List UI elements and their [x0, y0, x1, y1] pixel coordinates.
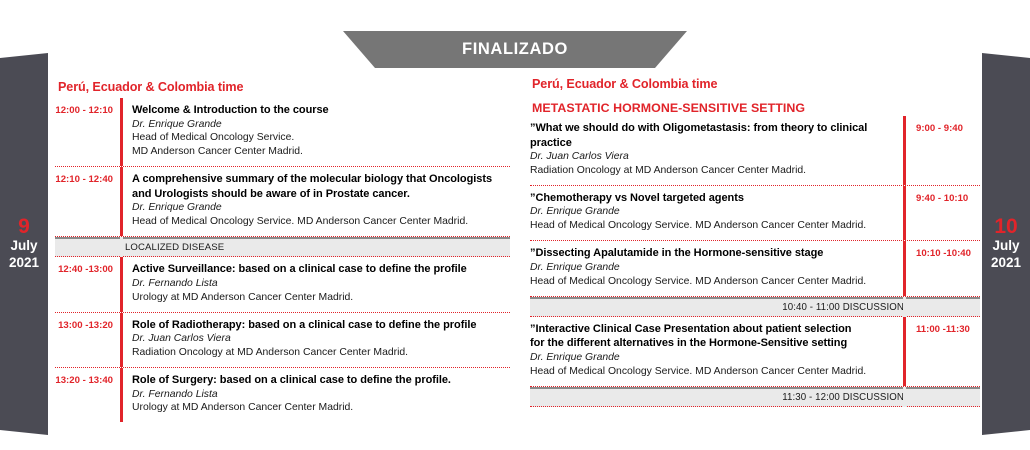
session-accent-bar	[120, 368, 123, 422]
session-speaker: Dr. Juan Carlos Viera	[530, 150, 903, 164]
session-speaker: Dr. Enrique Grande	[132, 118, 510, 132]
session-affiliation: Radiation Oncology at MD Anderson Cancer…	[530, 164, 903, 178]
session-content: Role of Radiotherapy: based on a clinica…	[132, 313, 510, 367]
discussion-band: 10:40 - 11:00 DISCUSSION	[530, 297, 980, 317]
session-content: Active Surveillance: based on a clinical…	[132, 257, 510, 311]
session-row: ”Dissecting Apalutamide in the Hormone-s…	[530, 241, 980, 296]
session-accent-bar	[120, 313, 123, 367]
session-affiliation: Radiation Oncology at MD Anderson Cancer…	[132, 346, 510, 360]
session-title: Active Surveillance: based on a clinical…	[132, 262, 510, 277]
agenda-page: FINALIZADO 9 July 2021 10 July 2021 Perú…	[0, 0, 1030, 450]
session-speaker: Dr. Fernando Lista	[132, 277, 510, 291]
session-title: Role of Radiotherapy: based on a clinica…	[132, 318, 510, 333]
session-content: Welcome & Introduction to the course Dr.…	[132, 98, 510, 166]
session-row: ”What we should do with Oligometastasis:…	[530, 116, 980, 186]
session-time: 13:20 - 13:40	[55, 368, 113, 386]
timezone-heading: Perú, Ecuador & Colombia time	[532, 77, 717, 91]
session-title: ”What we should do with Oligometastasis:…	[530, 121, 903, 150]
session-speaker: Dr. Enrique Grande	[530, 261, 903, 275]
date-month: July	[10, 238, 37, 255]
session-speaker: Dr. Fernando Lista	[132, 388, 510, 402]
session-time: 13:00 -13:20	[55, 313, 113, 331]
session-list-day-9: 12:00 - 12:10 Welcome & Introduction to …	[55, 98, 510, 422]
session-title: ”Dissecting Apalutamide in the Hormone-s…	[530, 246, 903, 261]
session-affiliation: Head of Medical Oncology Service. MD And…	[530, 219, 903, 233]
date-month: July	[992, 238, 1019, 255]
session-affiliation: Urology at MD Anderson Cancer Center Mad…	[132, 401, 510, 415]
date-block-day-10: 10 July 2021	[982, 53, 1030, 435]
date-year: 2021	[9, 255, 39, 272]
session-content: ”What we should do with Oligometastasis:…	[530, 116, 903, 185]
session-speaker: Dr. Enrique Grande	[132, 201, 510, 215]
date-day: 10	[994, 216, 1017, 238]
session-title: Welcome & Introduction to the course	[132, 103, 510, 118]
date-day: 9	[18, 216, 30, 238]
section-heading-metastatic: METASTATIC HORMONE-SENSITIVE SETTING	[532, 101, 805, 115]
session-time: 12:00 - 12:10	[55, 98, 113, 116]
session-content: Role of Surgery: based on a clinical cas…	[132, 368, 510, 422]
session-speaker: Dr. Juan Carlos Viera	[132, 332, 510, 346]
session-row: 12:40 -13:00 Active Surveillance: based …	[55, 257, 510, 312]
session-affiliation: Head of Medical Oncology Service. MD And…	[530, 365, 903, 379]
session-time: 9:00 - 9:40	[916, 116, 980, 134]
session-row: ”Interactive Clinical Case Presentation …	[530, 317, 980, 387]
session-title: Role of Surgery: based on a clinical cas…	[132, 373, 510, 388]
session-content: ”Interactive Clinical Case Presentation …	[530, 317, 903, 386]
session-time: 9:40 - 10:10	[916, 186, 980, 204]
session-title: A comprehensive summary of the molecular…	[132, 172, 510, 187]
section-band-localized-disease: LOCALIZED DISEASE	[55, 237, 510, 257]
session-time: 11:00 -11:30	[916, 317, 980, 335]
session-affiliation: Head of Medical Oncology Service. MD And…	[530, 275, 903, 289]
session-accent-bar	[903, 317, 906, 386]
status-banner-label: FINALIZADO	[462, 41, 568, 59]
timezone-heading: Perú, Ecuador & Colombia time	[58, 80, 243, 94]
session-title: ”Chemotherapy vs Novel targeted agents	[530, 191, 903, 206]
session-accent-bar	[120, 98, 123, 166]
date-block-day-9: 9 July 2021	[0, 53, 48, 435]
discussion-band: 11:30 - 12:00 DISCUSSION	[530, 387, 980, 407]
session-affiliation: MD Anderson Cancer Center Madrid.	[132, 145, 510, 159]
session-speaker: Dr. Enrique Grande	[530, 205, 903, 219]
status-banner: FINALIZADO	[343, 31, 687, 68]
session-time: 12:40 -13:00	[55, 257, 113, 275]
session-title: and Urologists should be aware of in Pro…	[132, 187, 510, 202]
session-row: 13:00 -13:20 Role of Radiotherapy: based…	[55, 313, 510, 368]
session-content: ”Chemotherapy vs Novel targeted agents D…	[530, 186, 903, 240]
session-content: A comprehensive summary of the molecular…	[132, 167, 510, 236]
session-title: ”Interactive Clinical Case Presentation …	[530, 322, 903, 337]
session-row: 12:10 - 12:40 A comprehensive summary of…	[55, 167, 510, 237]
session-accent-bar	[903, 241, 906, 295]
session-list-day-10: ”What we should do with Oligometastasis:…	[530, 116, 980, 407]
discussion-band-label: 10:40 - 11:00 DISCUSSION	[782, 302, 980, 313]
session-affiliation: Head of Medical Oncology Service.	[132, 131, 510, 145]
session-accent-bar	[903, 116, 906, 185]
session-row: ”Chemotherapy vs Novel targeted agents D…	[530, 186, 980, 241]
session-content: ”Dissecting Apalutamide in the Hormone-s…	[530, 241, 903, 295]
session-row: 12:00 - 12:10 Welcome & Introduction to …	[55, 98, 510, 167]
session-accent-bar	[120, 167, 123, 236]
session-time: 10:10 -10:40	[916, 241, 980, 259]
session-speaker: Dr. Enrique Grande	[530, 351, 903, 365]
session-title: for the different alternatives in the Ho…	[530, 336, 903, 351]
section-band-label: LOCALIZED DISEASE	[55, 242, 224, 253]
session-row: 13:20 - 13:40 Role of Surgery: based on …	[55, 368, 510, 422]
session-accent-bar	[120, 257, 123, 311]
session-affiliation: Head of Medical Oncology Service. MD And…	[132, 215, 510, 229]
session-time: 12:10 - 12:40	[55, 167, 113, 185]
date-year: 2021	[991, 255, 1021, 272]
discussion-band-label: 11:30 - 12:00 DISCUSSION	[782, 392, 980, 403]
session-accent-bar	[903, 186, 906, 240]
session-affiliation: Urology at MD Anderson Cancer Center Mad…	[132, 291, 510, 305]
